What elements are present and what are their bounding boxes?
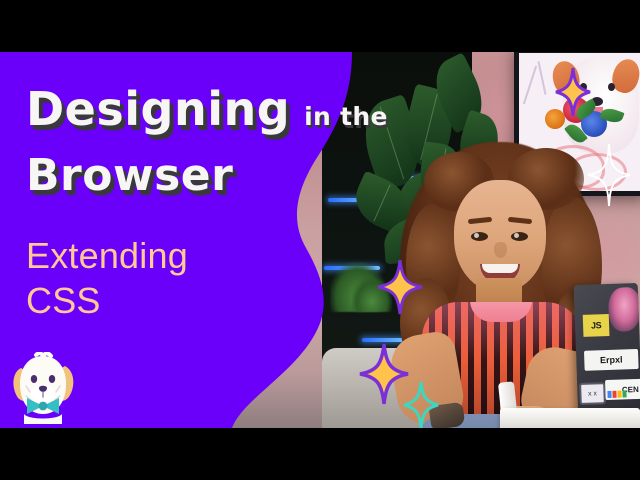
broken-tv-sticker: x x [579,382,606,405]
teeth [482,264,518,273]
letterbox-bottom [0,428,640,480]
cen-sticker: CEN [605,379,640,400]
js-sticker-label: JS [591,320,602,330]
eye-highlight [474,233,479,238]
erp-sticker-label: Erpxl [600,355,623,366]
face [454,180,546,292]
artwork-dog-eye [608,83,615,91]
sparkle-teal [404,382,438,428]
sparkle-gold-upper [378,260,422,314]
eyebrow-left [468,217,492,224]
letterbox-top [0,0,640,52]
nose [494,242,507,258]
broken-tv-sticker-label: x x [588,390,597,397]
erp-sticker: Erpxl [584,349,639,371]
js-sticker: JS [583,314,610,337]
white-table [500,408,640,428]
laptop: JS Erpxl x x CEN [574,283,640,419]
brain-sticker [608,287,640,332]
sparkle-gold-lower [360,344,408,404]
dog-mascot-logo [8,352,82,424]
sparkle-gold-frame [556,68,590,116]
sparkle-white-art [588,144,630,206]
eyebrow-right [508,217,532,224]
eye-highlight [514,233,519,238]
cen-sticker-dots [607,390,626,398]
video-frame: JS Erpxl x x CEN [0,52,640,428]
video-thumbnail: JS Erpxl x x CEN [0,0,640,480]
